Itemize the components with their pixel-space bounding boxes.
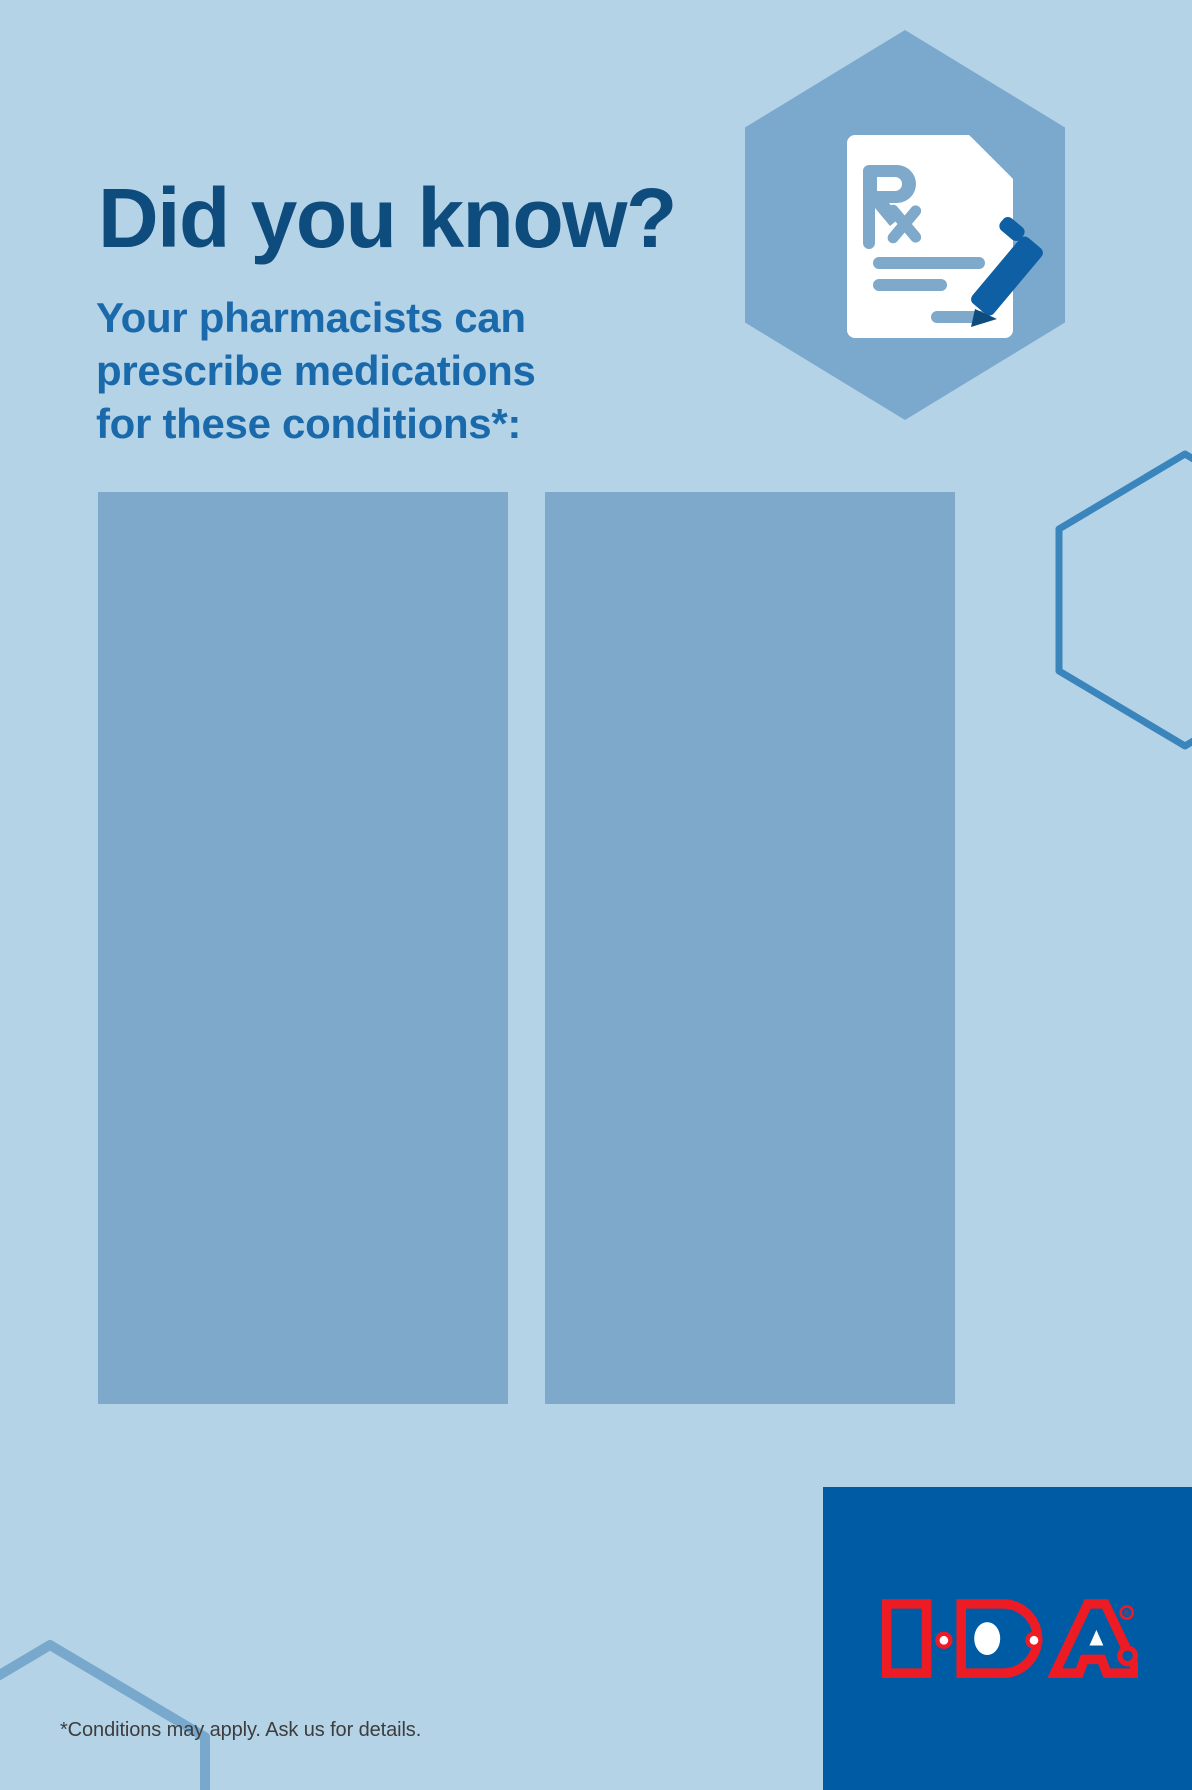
- registered-mark: ®: [1123, 1609, 1129, 1618]
- subheading-line-1: Your pharmacists can: [96, 292, 536, 345]
- ida-logo-mark: ®: [878, 1590, 1138, 1687]
- footnote-text: *Conditions may apply. Ask us for detail…: [60, 1719, 421, 1742]
- hexagon-outline-right-shape: [1055, 450, 1192, 750]
- page-title: Did you know?: [98, 176, 676, 260]
- conditions-list-panel-right: [545, 492, 955, 1404]
- hexagon-outline-bottom-left-shape: [0, 1640, 210, 1790]
- poster-canvas: Did you know? Your pharmacists can presc…: [0, 0, 1192, 1790]
- conditions-list-panel-left: [98, 492, 508, 1404]
- subheading-line-2: prescribe medications: [96, 345, 536, 398]
- prescription-document-icon: [843, 125, 1043, 340]
- subheading-line-3: for these conditions*:: [96, 398, 536, 451]
- document-line-1: [873, 257, 985, 269]
- ida-logo: ®: [823, 1487, 1192, 1790]
- document-line-2: [873, 279, 947, 291]
- subheading: Your pharmacists can prescribe medicatio…: [96, 292, 536, 451]
